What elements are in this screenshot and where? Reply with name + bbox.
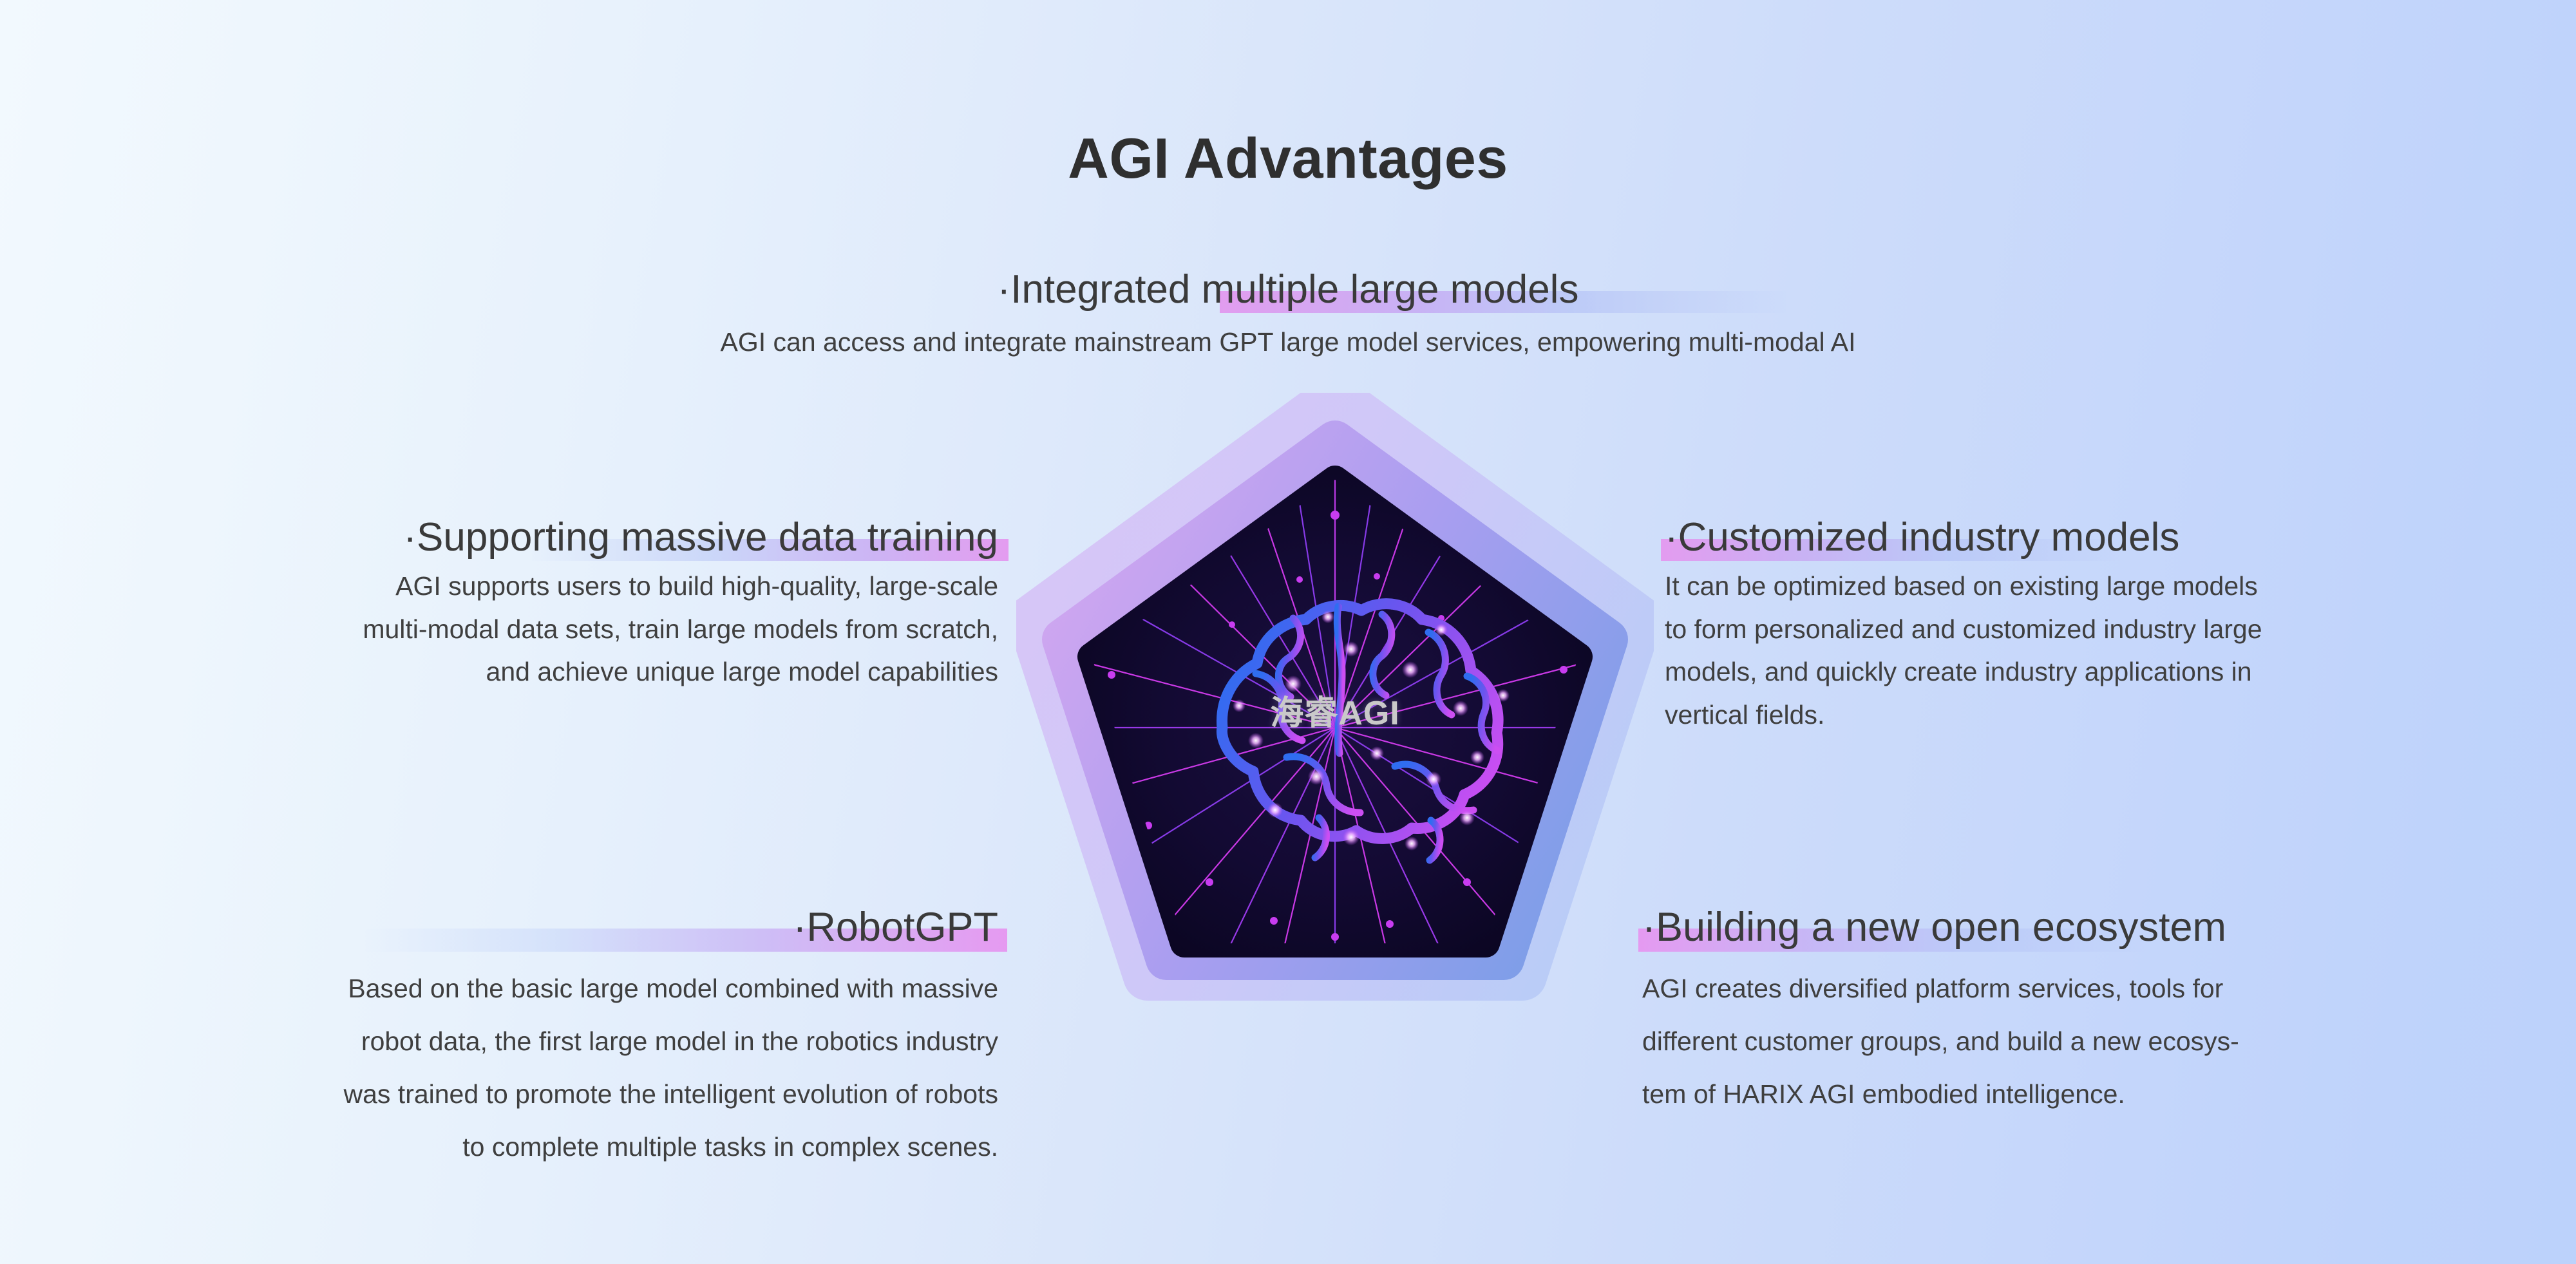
feature-integrated-multiple-large-models: ·Integrated multiple large models AGI ca… xyxy=(0,267,2576,364)
feature-heading: ·Supporting massive data training xyxy=(403,515,998,560)
feature-body: AGI supports users to build high-quality… xyxy=(97,565,998,693)
feature-heading-text: Supporting massive data training xyxy=(417,515,998,560)
feature-body: It can be optimized based on existing la… xyxy=(1665,565,2566,736)
agi-pentagon-emblem: 海睿AGI xyxy=(1016,393,1654,1095)
feature-heading: ·RobotGPT xyxy=(793,905,998,950)
feature-heading: ·Customized industry models xyxy=(1665,515,2179,560)
feature-customized-industry-models: ·Customized industry models It can be op… xyxy=(1665,515,2566,736)
feature-heading: ·Building a new open ecosystem xyxy=(1642,905,2226,950)
feature-heading-text: Customized industry models xyxy=(1678,515,2180,560)
feature-bullet: · xyxy=(403,515,417,560)
feature-heading-text: RobotGPT xyxy=(806,905,998,950)
feature-bullet: · xyxy=(1642,905,1656,950)
feature-heading-text: Integrated multiple large models xyxy=(1010,267,1578,312)
feature-heading-text: Building a new open ecosystem xyxy=(1656,905,2226,950)
feature-body: AGI creates diversified platform service… xyxy=(1642,962,2544,1120)
feature-bullet: · xyxy=(1665,515,1678,560)
feature-bullet: · xyxy=(793,905,806,950)
page-title: AGI Advantages xyxy=(0,126,2576,191)
feature-robotgpt: ·RobotGPT Based on the basic large model… xyxy=(97,905,998,1173)
feature-bullet: · xyxy=(998,267,1011,312)
feature-building-a-new-open-ecosystem: ·Building a new open ecosystem AGI creat… xyxy=(1642,905,2544,1120)
feature-body: Based on the basic large model combined … xyxy=(97,962,998,1173)
feature-heading: ·Integrated multiple large models xyxy=(998,267,1579,312)
infographic-canvas: AGI Advantages xyxy=(0,0,2576,1264)
feature-body: AGI can access and integrate mainstream … xyxy=(0,321,2576,363)
pentagon-emblem-svg xyxy=(1016,393,1654,1095)
feature-supporting-massive-data-training: ·Supporting massive data training AGI su… xyxy=(97,515,998,693)
